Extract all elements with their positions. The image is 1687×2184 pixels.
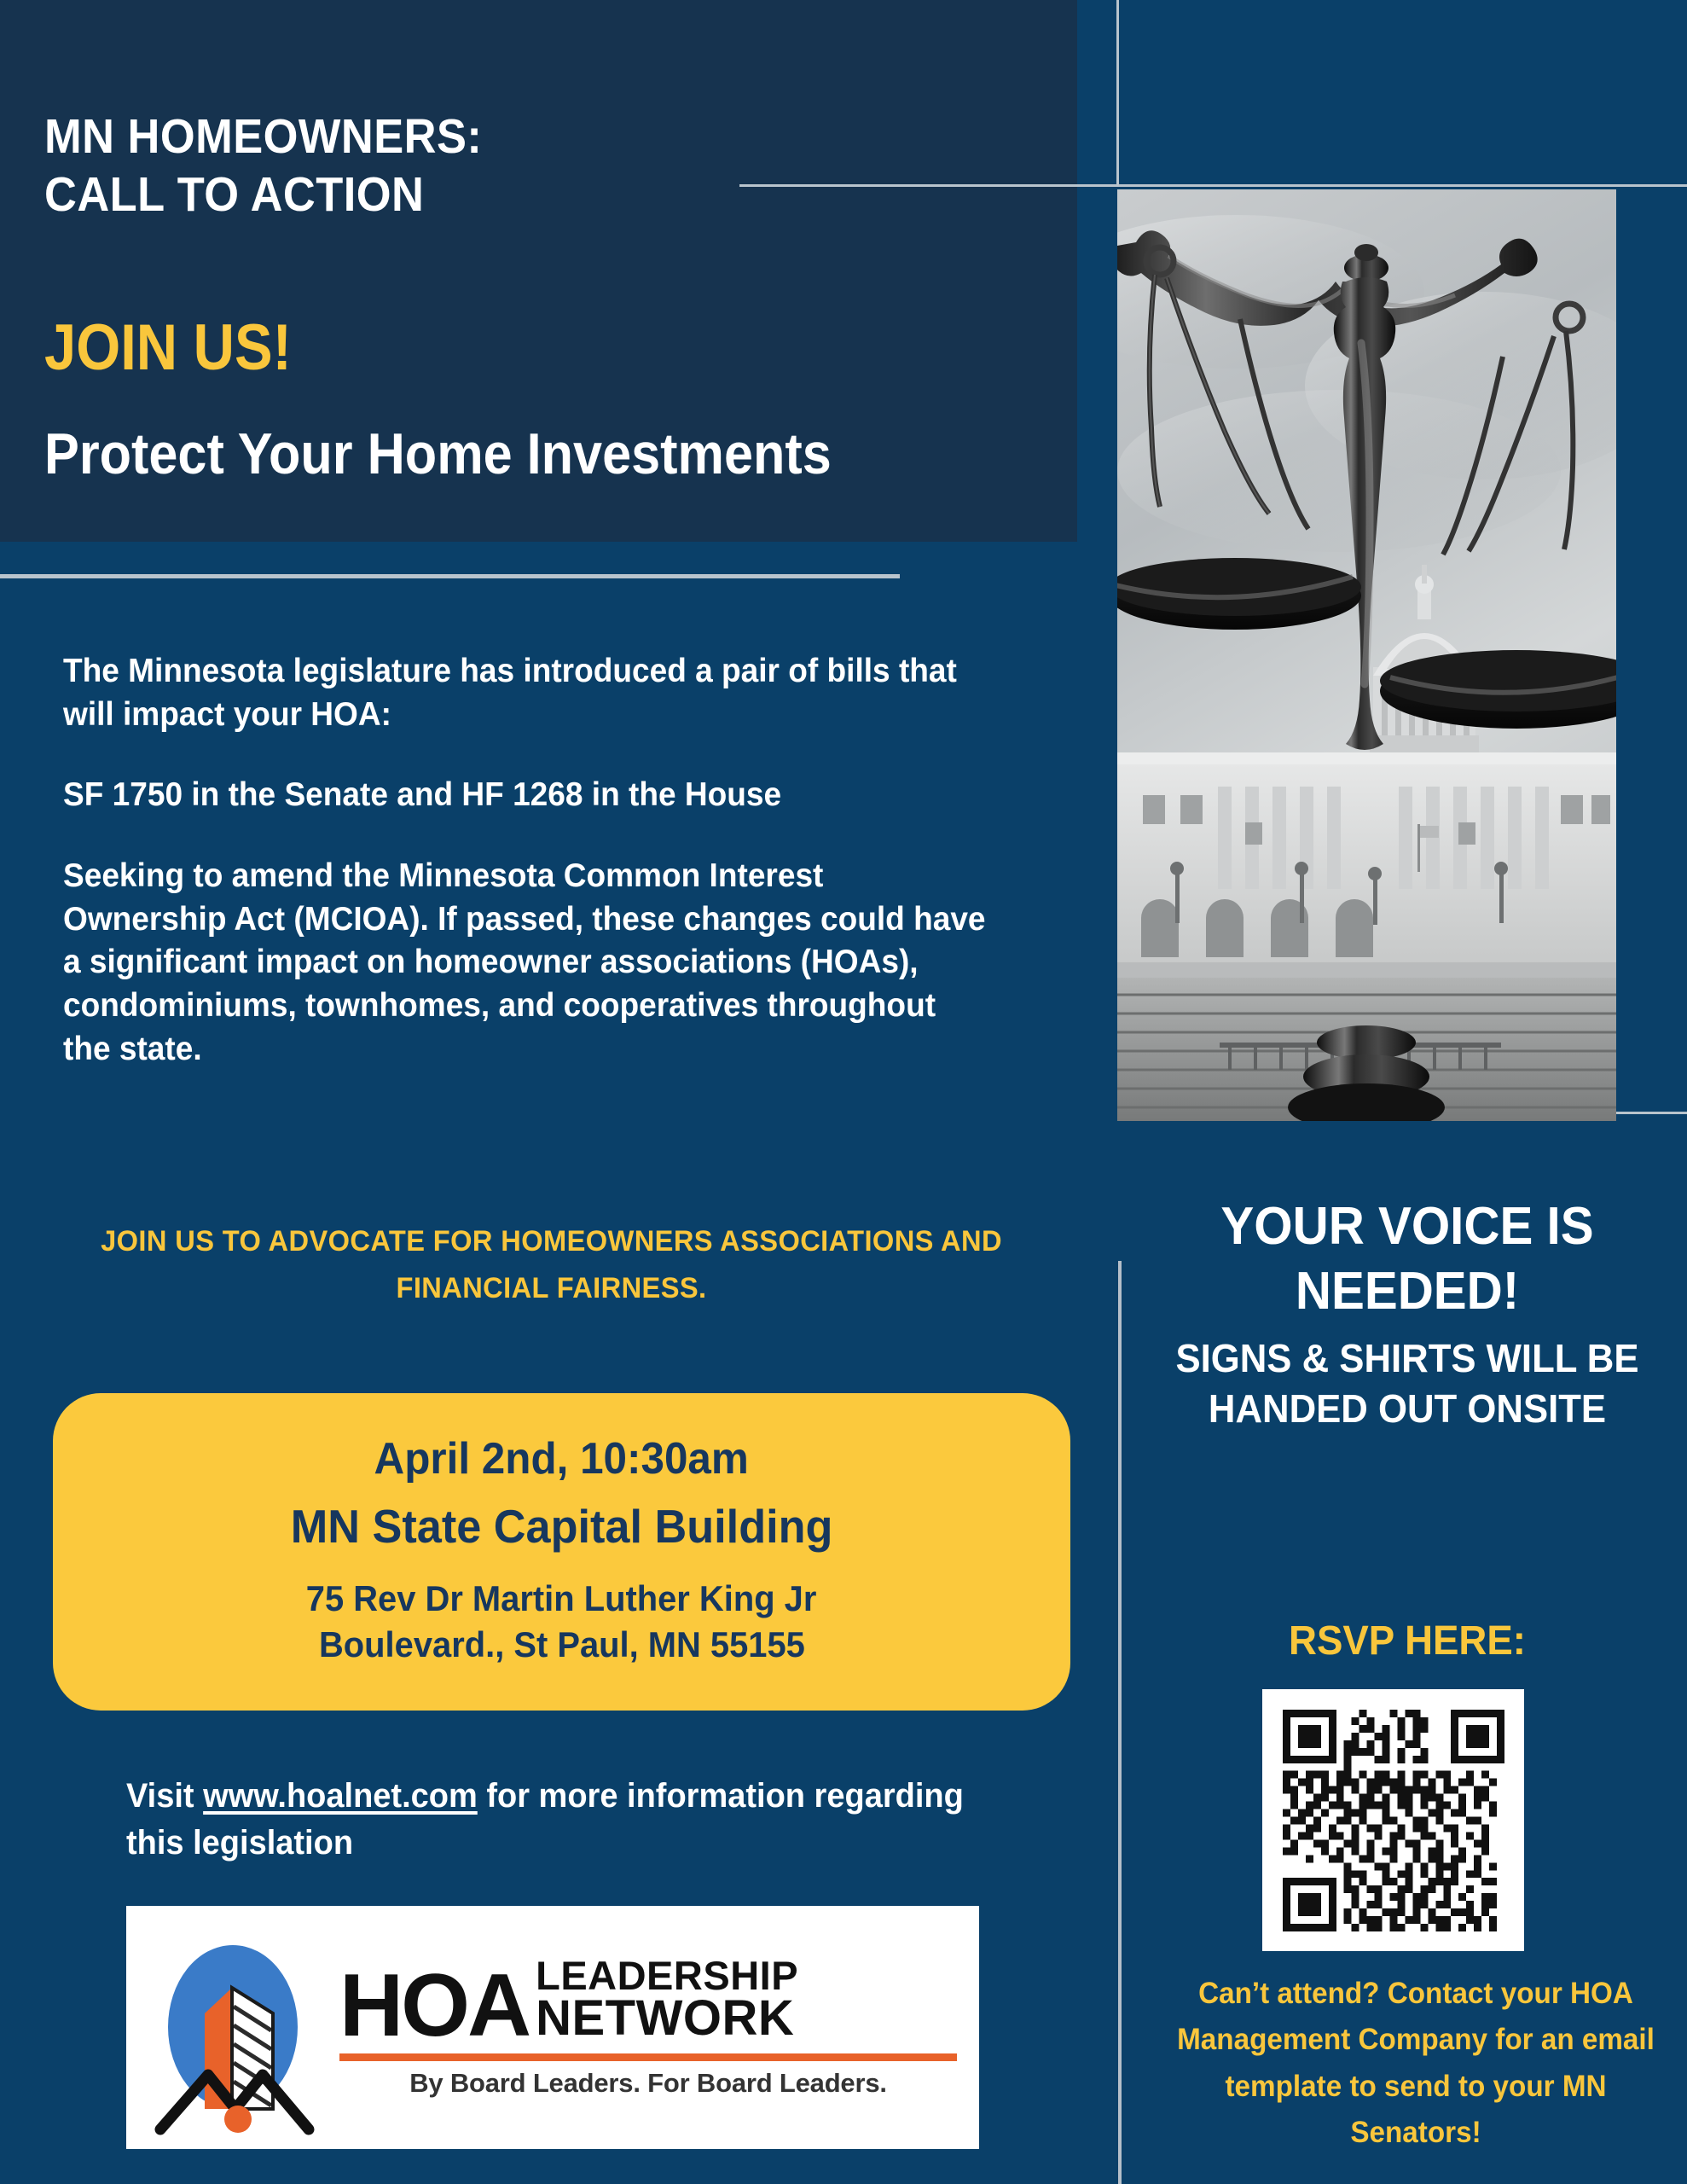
page-title-line2: CALL TO ACTION xyxy=(44,167,424,223)
body-paragraph-2: SF 1750 in the Senate and HF 1268 in the… xyxy=(63,774,987,817)
divider-top-vertical xyxy=(1116,0,1119,186)
flyer-page: MN HOMEOWNERS: CALL TO ACTION JOIN US! P… xyxy=(0,0,1687,2184)
house-building-logo-icon xyxy=(126,1906,339,2149)
logo-network-text: NETWORK xyxy=(536,1995,798,2042)
visit-website-line: Visit www.hoalnet.com for more informati… xyxy=(126,1773,1017,1867)
advocacy-callout: JOIN US TO ADVOCATE FOR HOMEOWNERS ASSOC… xyxy=(83,1218,1020,1312)
your-voice-heading: YOUR VOICE IS NEEDED! xyxy=(1159,1194,1656,1323)
divider-right-vertical xyxy=(1118,1261,1122,2184)
website-link[interactable]: www.hoalnet.com xyxy=(203,1777,478,1815)
divider-right-horizontal xyxy=(1616,1112,1687,1114)
subtitle: Protect Your Home Investments xyxy=(44,425,832,483)
event-date-time: April 2nd, 10:30am xyxy=(374,1437,749,1481)
signs-and-shirts-text: SIGNS & SHIRTS WILL BE HANDED OUT ONSITE xyxy=(1157,1333,1659,1434)
rsvp-label: RSVP HERE: xyxy=(1157,1621,1659,1662)
divider-top-horizontal xyxy=(739,184,1687,187)
event-details-box: April 2nd, 10:30am MN State Capital Buil… xyxy=(53,1393,1070,1711)
visit-prefix: Visit xyxy=(126,1777,203,1815)
event-venue: MN State Capital Building xyxy=(291,1503,833,1550)
logo-wordmark: HOA LEADERSHIP NETWORK By Board Leaders.… xyxy=(339,1956,979,2100)
page-title-line1: MN HOMEOWNERS: xyxy=(44,109,482,165)
body-paragraph-1: The Minnesota legislature has introduced… xyxy=(63,650,987,736)
divider-left-horizontal xyxy=(0,574,900,578)
scales-of-justice-capitol-photo xyxy=(1117,189,1616,1121)
body-copy: The Minnesota legislature has introduced… xyxy=(63,650,987,1072)
cant-attend-note: Can’t attend? Contact your HOA Managemen… xyxy=(1157,1971,1675,2156)
logo-tagline: By Board Leaders. For Board Leaders. xyxy=(339,2068,957,2099)
event-address-line1: 75 Rev Dr Martin Luther King Jr xyxy=(306,1576,817,1622)
hoa-leadership-network-logo: HOA LEADERSHIP NETWORK By Board Leaders.… xyxy=(126,1906,979,2149)
join-us-heading: JOIN US! xyxy=(44,316,292,380)
logo-orange-bar xyxy=(339,2053,957,2061)
header-panel: MN HOMEOWNERS: CALL TO ACTION JOIN US! P… xyxy=(0,0,1077,542)
logo-leadership-text: LEADERSHIP xyxy=(536,1956,798,1995)
event-address-line2: Boulevard., St Paul, MN 55155 xyxy=(319,1622,805,1668)
logo-hoa-text: HOA xyxy=(339,1967,529,2046)
rsvp-qr-code[interactable] xyxy=(1262,1689,1524,1951)
body-paragraph-3: Seeking to amend the Minnesota Common In… xyxy=(63,855,987,1071)
